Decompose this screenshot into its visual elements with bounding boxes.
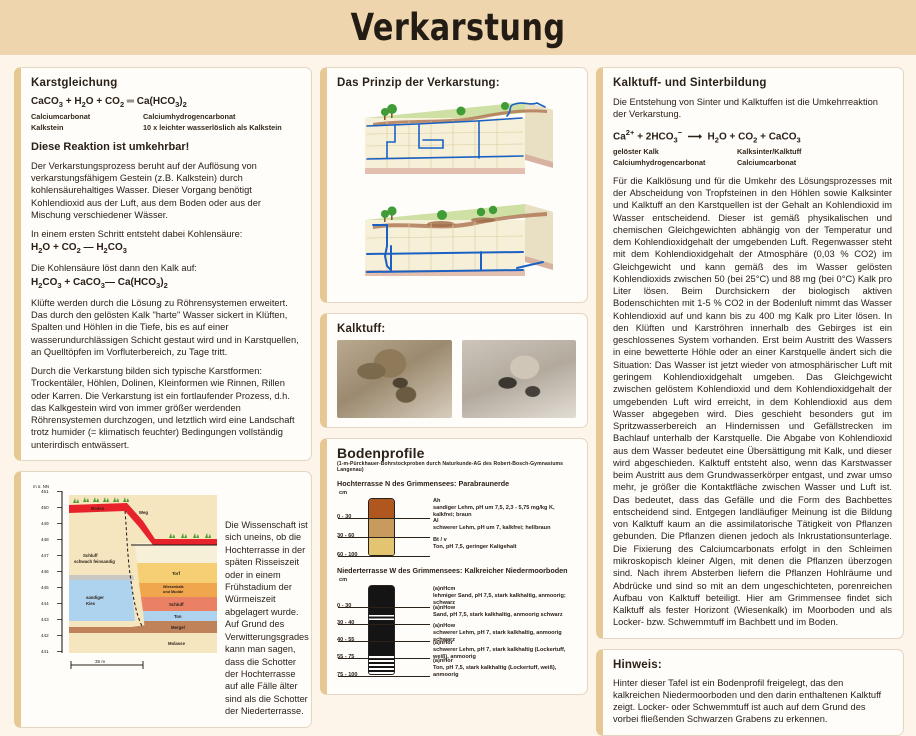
label-boden: Boden	[91, 506, 105, 511]
poster-header: Verkarstung	[0, 0, 916, 55]
karst-paragraph-3: Klüfte werden durch die Lösung zu Röhren…	[31, 297, 300, 358]
label-calciumcarbonat-2: Calciumcarbonat	[737, 158, 796, 169]
terrassen-cross-section-diagram: m ü. NN 451 450 449 448 447 446 445 444 …	[31, 481, 217, 673]
column-right: Kalktuff- und Sinterbildung Die Entstehu…	[596, 67, 904, 624]
karst-equation-2: H2O + CO2 — H2CO3	[31, 242, 300, 255]
hinweis-text: Hinter dieser Tafel ist ein Bodenprofil …	[613, 677, 892, 726]
depth2-rule-1	[338, 607, 430, 608]
terrassen-description: Die Wissenschaft ist sich uneins, ob die…	[225, 481, 309, 718]
bodenprofile-subtitle: (1-m-Pürckhauer-Bohrstockproben durch Na…	[337, 461, 576, 473]
panel-hinweis: Hinweis: Hinter dieser Tafel ist ein Bod…	[596, 649, 904, 736]
core-horizon-ah	[369, 499, 394, 518]
depth2-40-55: 40 - 55	[337, 637, 354, 643]
bodenprofile-title: Bodenprofile	[337, 446, 576, 461]
bodenprofile-1-heading: Hochterrasse N des Grimmensees: Parabrau…	[337, 479, 576, 488]
label-geloester-kalk: gelöster Kalk	[613, 147, 737, 158]
horizon2-code-3: (a)nHow	[433, 623, 576, 630]
horizon-text-btv: Ton, pH 7,5, geringer Kaligehalt	[433, 544, 517, 550]
karst-block-diagram-stage-2	[357, 198, 557, 293]
kalktuff-photos-title: Kalktuff:	[337, 323, 576, 335]
svg-text:446: 446	[41, 569, 49, 574]
karst-equation-labels-row2: Kalkstein 10 x leichter wasserlöslich al…	[31, 123, 300, 134]
panel-prinzip: Das Prinzip der Verkarstung:	[320, 67, 588, 303]
panel-bodenprofile: Bodenprofile (1-m-Pürckhauer-Bohrstockpr…	[320, 438, 588, 695]
kalktuff-equation-labels-row1: gelöster Kalk Kalksinter/Kalktuff	[613, 147, 892, 158]
label-calciumcarbonat: Calciumcarbonat	[31, 112, 143, 123]
label-kalksinter: Kalksinter/Kalktuff	[737, 147, 801, 158]
hinweis-title: Hinweis:	[613, 659, 892, 671]
horizon-code-btv: Bt / v	[433, 537, 517, 544]
svg-text:451: 451	[41, 489, 49, 494]
page-title: Verkarstung	[351, 6, 566, 49]
karst-paragraph-4: Durch die Verkarstung bilden sich typisc…	[31, 365, 300, 451]
svg-text:441: 441	[41, 649, 49, 654]
terrassen-scale-bar: 35 m	[71, 659, 143, 669]
kalktuff-equation-labels-row2: Calciumhydrogencarbonat Calciumcarbonat	[613, 158, 892, 169]
terrassen-figure-row: m ü. NN 451 450 449 448 447 446 445 444 …	[31, 481, 300, 718]
karst-equation-3: H2CO3 + CaCO3— Ca(HCO3)2	[31, 277, 300, 290]
bodenprofile-2-figure: cm 0 - 30 30 - 40 40 - 55 55 - 75 75 - 1…	[337, 577, 576, 685]
core2-seg-4	[369, 636, 394, 654]
karst-paragraph-2: Die Kohlensäure löst dann den Kalk auf:	[31, 262, 300, 274]
label-wiesenkalk-2: und Mudde	[163, 590, 183, 594]
horizon2-desc-5: (a)nHor Ton, pH 7,5, stark kalkhaltig (L…	[433, 658, 576, 679]
horizon-desc-al: Al schwerer Lehm, pH um 7, kalkfrei; hel…	[433, 518, 551, 532]
depth2-75-100: 75 - 100	[337, 672, 358, 678]
depth-rule-2	[338, 537, 430, 538]
horizon2-code-1: (a)nHcm	[433, 586, 576, 593]
karst-paragraph-1: Der Verkarstungsprozess beruht auf der A…	[31, 160, 300, 221]
terrassen-axis-ticks: 451 450 449 448 447 446 445 444 443 442 …	[41, 489, 62, 654]
panel-karstgleichung: Karstgleichung CaCO3 + H2O + CO2 ═ Ca(HC…	[14, 67, 312, 461]
prinzip-diagrams	[337, 96, 576, 293]
bodenprofile-1-figure: cm 0 - 30 30 - 60 60 - 100 Ah sandiger L…	[337, 490, 576, 564]
core-horizon-al	[369, 518, 394, 537]
karstgleichung-title: Karstgleichung	[31, 77, 300, 89]
bodenprofile-1-unit: cm	[339, 490, 347, 496]
column-middle: Das Prinzip der Verkarstung:	[320, 67, 588, 624]
label-schluff-right: Schluff	[169, 602, 184, 607]
label-schluff-top: Schluff	[83, 553, 98, 558]
depth2-rule-4	[338, 658, 430, 659]
svg-text:448: 448	[41, 537, 49, 542]
svg-text:444: 444	[41, 601, 49, 606]
label-sandiger-kies-2: Kies	[86, 601, 96, 606]
label-calciumhydrogencarbonat: Calciumhydrogencarbonat	[143, 112, 235, 123]
horizon-text-al: schwerer Lehm, pH um 7, kalkfrei; hellbr…	[433, 525, 551, 531]
horizon2-desc-2: (a)nHow Sand, pH 7,5, stark kalkhaltig, …	[433, 605, 563, 619]
karst-block-diagram-stage-1	[357, 96, 557, 191]
kalktuff-title: Kalktuff- und Sinterbildung	[613, 77, 892, 89]
kalktuff-equation: Ca2+ + 2HCO3− ⟶ H2O + CO2 + CaCO3	[613, 128, 892, 144]
horizon2-code-4: (a)nHor	[433, 640, 576, 647]
horizon2-text-2: Sand, pH 7,5, stark kalkhaltig, anmoorig…	[433, 612, 563, 618]
svg-text:447: 447	[41, 553, 49, 558]
poster-body: Karstgleichung CaCO3 + H2O + CO2 ═ Ca(HC…	[0, 55, 916, 630]
kalktuff-body: Für die Kalklösung und für die Umkehr de…	[613, 175, 892, 629]
label-ton: Ton	[174, 614, 182, 619]
kalktuff-photo-1	[337, 340, 452, 418]
horizon2-code-2: (a)nHow	[433, 605, 563, 612]
label-schluff-sub: schwach feinsandig	[74, 559, 115, 564]
depth-rule-3	[338, 556, 430, 557]
depth-rule-1	[338, 518, 430, 519]
horizon-code-al: Al	[433, 518, 551, 525]
depth-60-100: 60 - 100	[337, 552, 358, 558]
kalktuff-photo-row	[337, 340, 576, 418]
reversible-reaction-note: Diese Reaktion ist umkehrbar!	[31, 141, 300, 153]
horizon-text-ah: sandiger Lehm, pH um 7,5, 2,3 - 5,75 mg/…	[433, 505, 555, 518]
label-weg: Weg	[139, 510, 148, 515]
svg-text:450: 450	[41, 505, 49, 510]
bodenprofile-2-heading: Niederterrasse W des Grimmensees: Kalkre…	[337, 566, 576, 575]
panel-kalktuff-sinterbildung: Kalktuff- und Sinterbildung Die Entstehu…	[596, 67, 904, 639]
label-molasse: Molasse	[168, 641, 186, 646]
karst-equation-labels-row1: Calciumcarbonat Calciumhydrogencarbonat	[31, 112, 300, 123]
depth-0-30: 0 - 30	[337, 514, 351, 520]
horizon2-code-5: (a)nHor	[433, 658, 576, 665]
label-solubility: 10 x leichter wasserlöslich als Kalkstei…	[143, 123, 282, 134]
karst-equation-main: CaCO3 + H2O + CO2 ═ Ca(HCO3)2	[31, 96, 300, 109]
karst-paragraph-1b: In einem ersten Schritt entsteht dabei K…	[31, 228, 300, 240]
bodenprofile-1-core	[368, 498, 395, 556]
panel-kalktuff-photos: Kalktuff:	[320, 313, 588, 428]
label-calciumhydrogencarbonat-2: Calciumhydrogencarbonat	[613, 158, 737, 169]
svg-text:445: 445	[41, 585, 49, 590]
label-sandiger-kies-1: sandiger	[86, 595, 104, 600]
depth2-rule-2	[338, 624, 430, 625]
core-horizon-btv	[369, 537, 394, 556]
horizon-desc-ah: Ah sandiger Lehm, pH um 7,5, 2,3 - 5,75 …	[433, 498, 576, 519]
svg-text:449: 449	[41, 521, 49, 526]
svg-text:442: 442	[41, 633, 49, 638]
prinzip-title: Das Prinzip der Verkarstung:	[337, 77, 576, 89]
horizon-code-ah: Ah	[433, 498, 576, 505]
label-torf: Torf	[172, 571, 181, 576]
panel-terrassenprofil: m ü. NN 451 450 449 448 447 446 445 444 …	[14, 471, 312, 728]
scale-label: 35 m	[95, 659, 105, 664]
horizon-desc-btv: Bt / v Ton, pH 7,5, geringer Kaligehalt	[433, 537, 517, 551]
depth2-55-75: 55 - 75	[337, 654, 354, 660]
label-kalkstein: Kalkstein	[31, 123, 143, 134]
depth-30-60: 30 - 60	[337, 533, 354, 539]
depth2-rule-3	[338, 641, 430, 642]
label-mergel: Mergel	[171, 625, 185, 630]
depth2-30-40: 30 - 40	[337, 620, 354, 626]
core2-seg-1	[369, 586, 394, 613]
depth2-rule-5	[338, 676, 430, 677]
bodenprofile-2-unit: cm	[339, 577, 347, 583]
kalktuff-intro: Die Entstehung von Sinter und Kalktuffen…	[613, 96, 892, 121]
kalktuff-photo-2	[462, 340, 577, 418]
svg-text:443: 443	[41, 617, 49, 622]
column-left: Karstgleichung CaCO3 + H2O + CO2 ═ Ca(HC…	[14, 67, 312, 624]
horizon2-text-5: Ton, pH 7,5, stark kalkhaltig (Lockertuf…	[433, 665, 556, 678]
label-wiesenkalk-1: Wiesenkalk	[163, 585, 185, 589]
core2-seg-2	[369, 613, 394, 622]
depth2-0-30: 0 - 30	[337, 603, 351, 609]
